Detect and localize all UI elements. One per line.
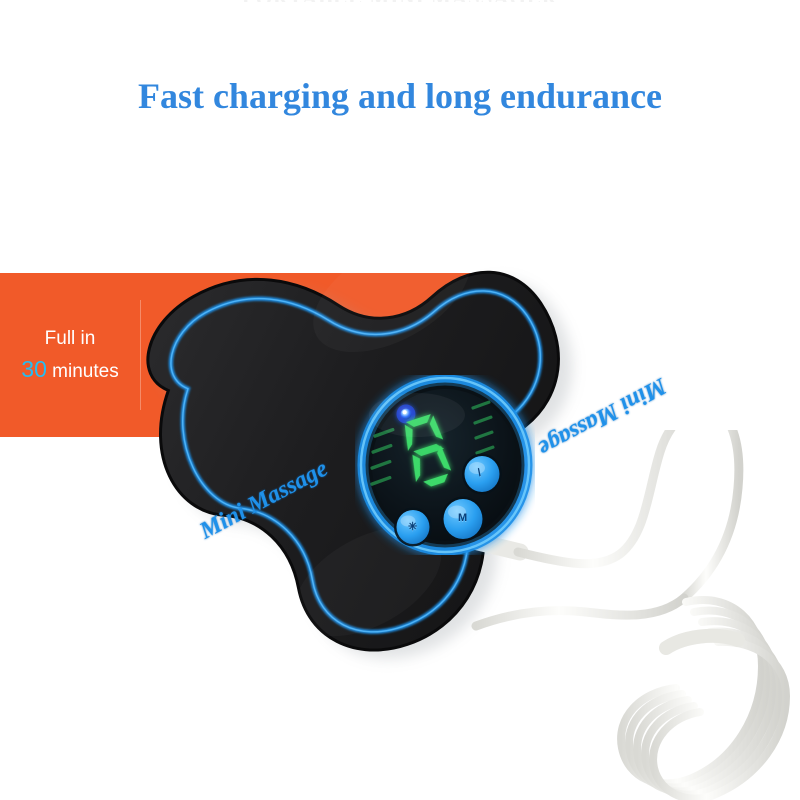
feature-daily-use: 15 minutes daily	[141, 273, 274, 437]
feature-daily-line2: daily	[188, 357, 227, 387]
feature-charge-time: Full in 30 minutes	[0, 273, 140, 437]
product-marketing-image: PORTABLE MINI MASSAGER Fast charging and…	[0, 0, 800, 800]
feature-continuous-line2: use for	[316, 339, 374, 369]
cropped-top-text: PORTABLE MINI MASSAGER	[0, 0, 800, 2]
page-title: Fast charging and long endurance	[0, 74, 800, 118]
feature-daily-unit: minutes	[190, 331, 257, 352]
control-panel[interactable]: / M ✳	[355, 375, 535, 555]
feature-charge-line1: Full in	[45, 324, 96, 354]
feature-daily-line1: 15 minutes	[159, 324, 256, 357]
feature-daily-value: 15	[159, 326, 185, 352]
feature-continuous-line1: Continuous	[297, 309, 393, 339]
feature-continuous-value: 8	[312, 371, 325, 397]
feature-charge-value: 30	[21, 356, 47, 382]
brand-label-bottom-left: Mini Massage	[196, 456, 333, 546]
feature-charge-unit: minutes	[52, 361, 119, 382]
feature-charge-line2: 30 minutes	[21, 354, 118, 387]
